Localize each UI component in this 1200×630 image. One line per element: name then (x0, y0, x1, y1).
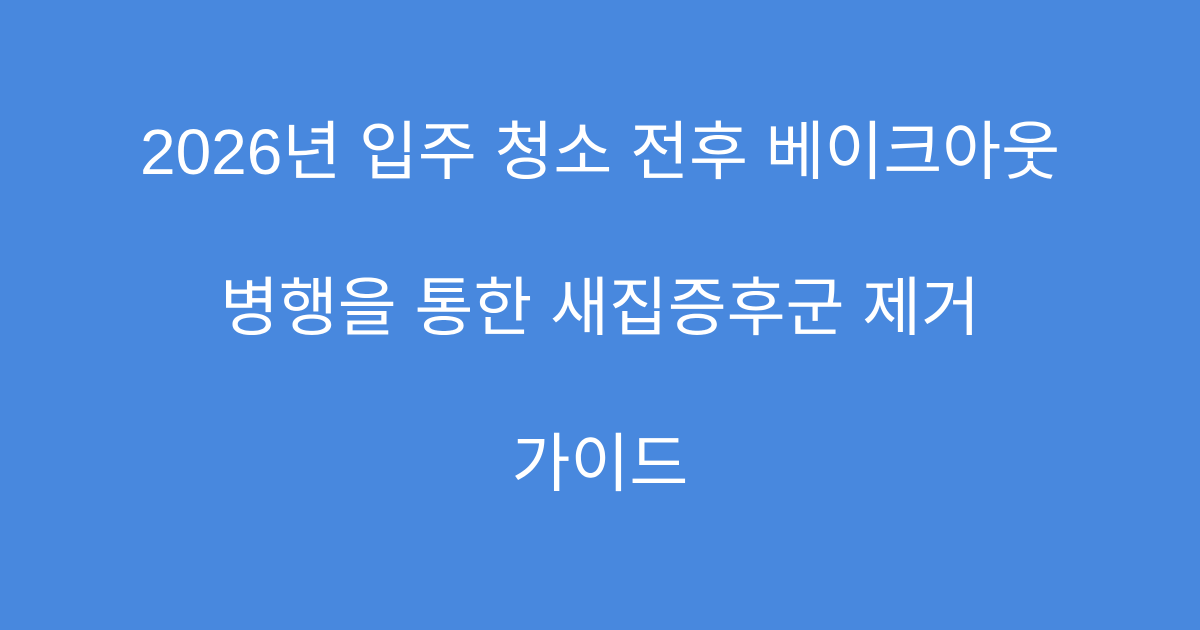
og-image-card: 2026년 입주 청소 전후 베이크아웃 병행을 통한 새집증후군 제거 가이드 (0, 0, 1200, 630)
title-line-3: 가이드 (50, 425, 1150, 503)
title-line-1: 2026년 입주 청소 전후 베이크아웃 (50, 113, 1150, 191)
page-title: 2026년 입주 청소 전후 베이크아웃 병행을 통한 새집증후군 제거 가이드 (50, 35, 1150, 581)
title-line-2: 병행을 통한 새집증후군 제거 (50, 269, 1150, 347)
